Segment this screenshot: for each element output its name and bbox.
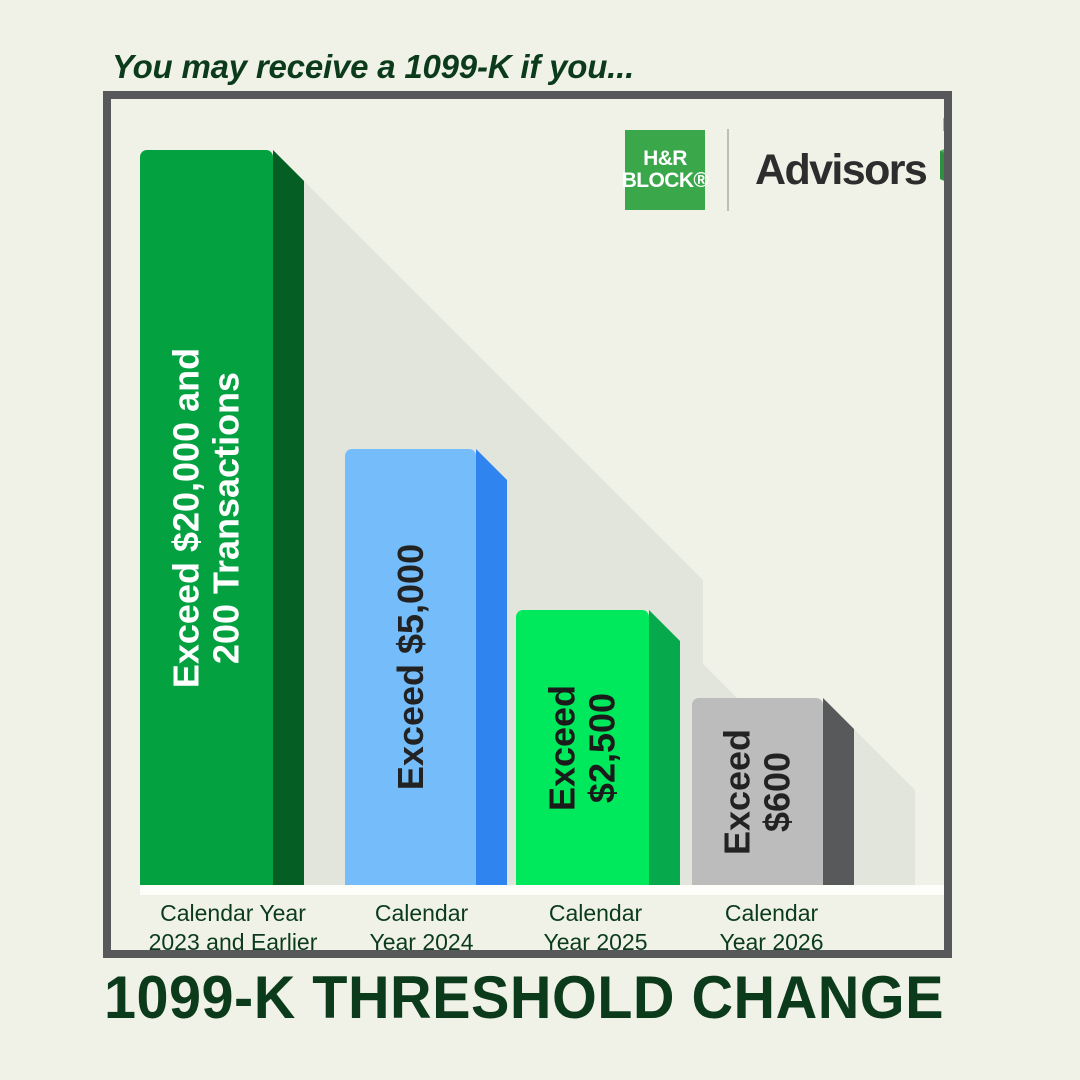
- axis-label-2026: Calendar Year 2026: [679, 899, 864, 958]
- bar-2024-side: [476, 449, 507, 885]
- bar-2024-label: Exceed $5,000: [390, 457, 430, 877]
- bar-2023-label: Exceed $20,000 and 200 Transactions: [166, 168, 247, 868]
- bar-2026-face[interactable]: Exceed $600: [692, 698, 823, 885]
- bar-2024-face[interactable]: Exceed $5,000: [345, 449, 476, 885]
- brand-logo-lockup: H&R BLOCK® Advisors BLOCK: [625, 126, 952, 214]
- bar-2025-side: [649, 610, 680, 885]
- bar-2023-face[interactable]: Exceed $20,000 and 200 Transactions: [140, 150, 273, 885]
- x-axis-line: [140, 885, 944, 895]
- advisors-wordmark: Advisors: [755, 149, 926, 192]
- footer-title: 1099-K THRESHOLD CHANGE: [104, 963, 941, 1032]
- bar-2026-label: Exceed $600: [717, 704, 798, 880]
- advisors-block-superscript: BLOCK: [942, 115, 952, 136]
- bar-2026-side: [823, 698, 854, 885]
- bar-2023-side: [273, 150, 304, 885]
- chart-panel: Exceed $20,000 and 200 Transactions Exce…: [103, 91, 952, 958]
- page-headline: You may receive a 1099-K if you...: [112, 48, 634, 86]
- block-advisors-logo: Advisors BLOCK: [755, 137, 952, 203]
- hr-block-logo: H&R BLOCK®: [625, 130, 705, 210]
- hr-block-line-1: H&R: [643, 148, 687, 170]
- chart-plot-area: Exceed $20,000 and 200 Transactions Exce…: [111, 99, 944, 950]
- bar-2025-label: Exceed $2,500: [542, 617, 623, 879]
- hr-block-line-2: BLOCK®: [622, 170, 709, 192]
- axis-label-2025: Calendar Year 2025: [503, 899, 688, 958]
- axis-label-2023: Calendar Year 2023 and Earlier: [133, 899, 333, 958]
- x-axis-tick-labels: Calendar Year 2023 and Earlier Calendar …: [111, 899, 944, 958]
- block-cube-icon: [936, 137, 952, 193]
- axis-label-2024: Calendar Year 2024: [329, 899, 514, 958]
- logo-divider: [727, 129, 729, 211]
- bar-2025-face[interactable]: Exceed $2,500: [516, 610, 649, 885]
